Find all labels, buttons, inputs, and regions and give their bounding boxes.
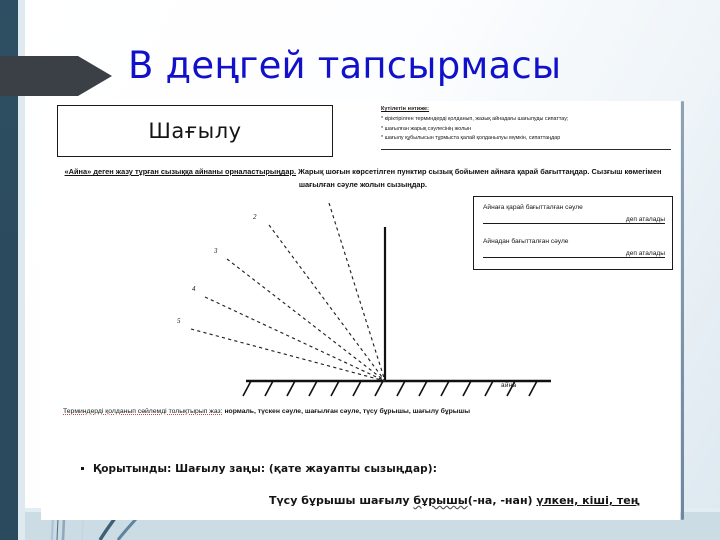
- conclusion-part-c: (-на, -нан): [468, 494, 537, 507]
- sheet-right-rule: [681, 101, 684, 520]
- expected-results-item: * шағылған жарық сәулесінің жолын: [381, 125, 671, 135]
- ray-label: 2: [253, 213, 257, 221]
- conclusion-part-a: Түсу бұрышы шағылу: [269, 494, 413, 507]
- ray-5: [191, 329, 385, 381]
- slide-canvas: В деңгей тапсырмасы Шағылу Күтілетін нәт…: [0, 0, 720, 540]
- expected-results-item: * кіріктірілген терминдерді қолданып, жа…: [381, 115, 671, 125]
- topic-heading-box: Шағылу: [57, 105, 333, 157]
- ray-2: [269, 225, 385, 381]
- ray-label: 3: [214, 247, 218, 255]
- ray-4: [205, 297, 385, 381]
- terms-list: нормаль, түскен сәуле, шағылған сәуле, т…: [223, 408, 470, 415]
- reflection-ray-diagram: 2 3 4 5: [161, 201, 561, 401]
- ray-diagram-svg: [161, 201, 561, 401]
- terms-lead: Терминдерді қолданып сөйлемді толықтырып…: [63, 408, 223, 415]
- incident-rays: [191, 203, 385, 381]
- ray-1: [329, 203, 385, 381]
- conclusion-part-b: бұрышы: [413, 494, 467, 507]
- ray-label: 4: [192, 285, 196, 293]
- instruction-rest: Жарық шоғын көрсетілген пунктир сызық бо…: [296, 167, 661, 189]
- instruction-paragraph: «Айна» деген жазу тұрған сызыққа айнаны …: [63, 166, 663, 191]
- worksheet-sheet: Шағылу Күтілетін нәтиже: * кіріктірілген…: [41, 101, 680, 520]
- mirror-hatching: [243, 381, 537, 396]
- instruction-lead: «Айна» деген жазу тұрған сызыққа айнаны …: [65, 167, 297, 176]
- conclusion-answer-line: Түсу бұрышы шағылу бұрышы(-на, -нан) үлк…: [269, 494, 640, 507]
- conclusion-text: Қорытынды: Шағылу заңы: (қате жауапты сы…: [93, 463, 437, 475]
- slide-title: В деңгей тапсырмасы: [128, 44, 648, 88]
- expected-results-divider: [381, 149, 671, 150]
- mirror-label: айна: [501, 382, 516, 389]
- ray-label: 5: [177, 317, 181, 325]
- expected-results-item: * шағылу құбылысын тұрмыста қалай қолдан…: [381, 134, 671, 144]
- conclusion-line: Қорытынды: Шағылу заңы: (қате жауапты сы…: [81, 463, 661, 475]
- expected-results-title: Күтілетін нәтиже:: [381, 106, 671, 112]
- expected-results-block: Күтілетін нәтиже: * кіріктірілген термин…: [381, 106, 671, 144]
- terms-instruction: Терминдерді қолданып сөйлемді толықтырып…: [63, 406, 669, 417]
- ray-3: [227, 259, 385, 381]
- conclusion-options[interactable]: үлкен, кіші, тең: [536, 494, 639, 507]
- bullet-icon: [81, 467, 84, 470]
- topic-heading-label: Шағылу: [148, 119, 241, 143]
